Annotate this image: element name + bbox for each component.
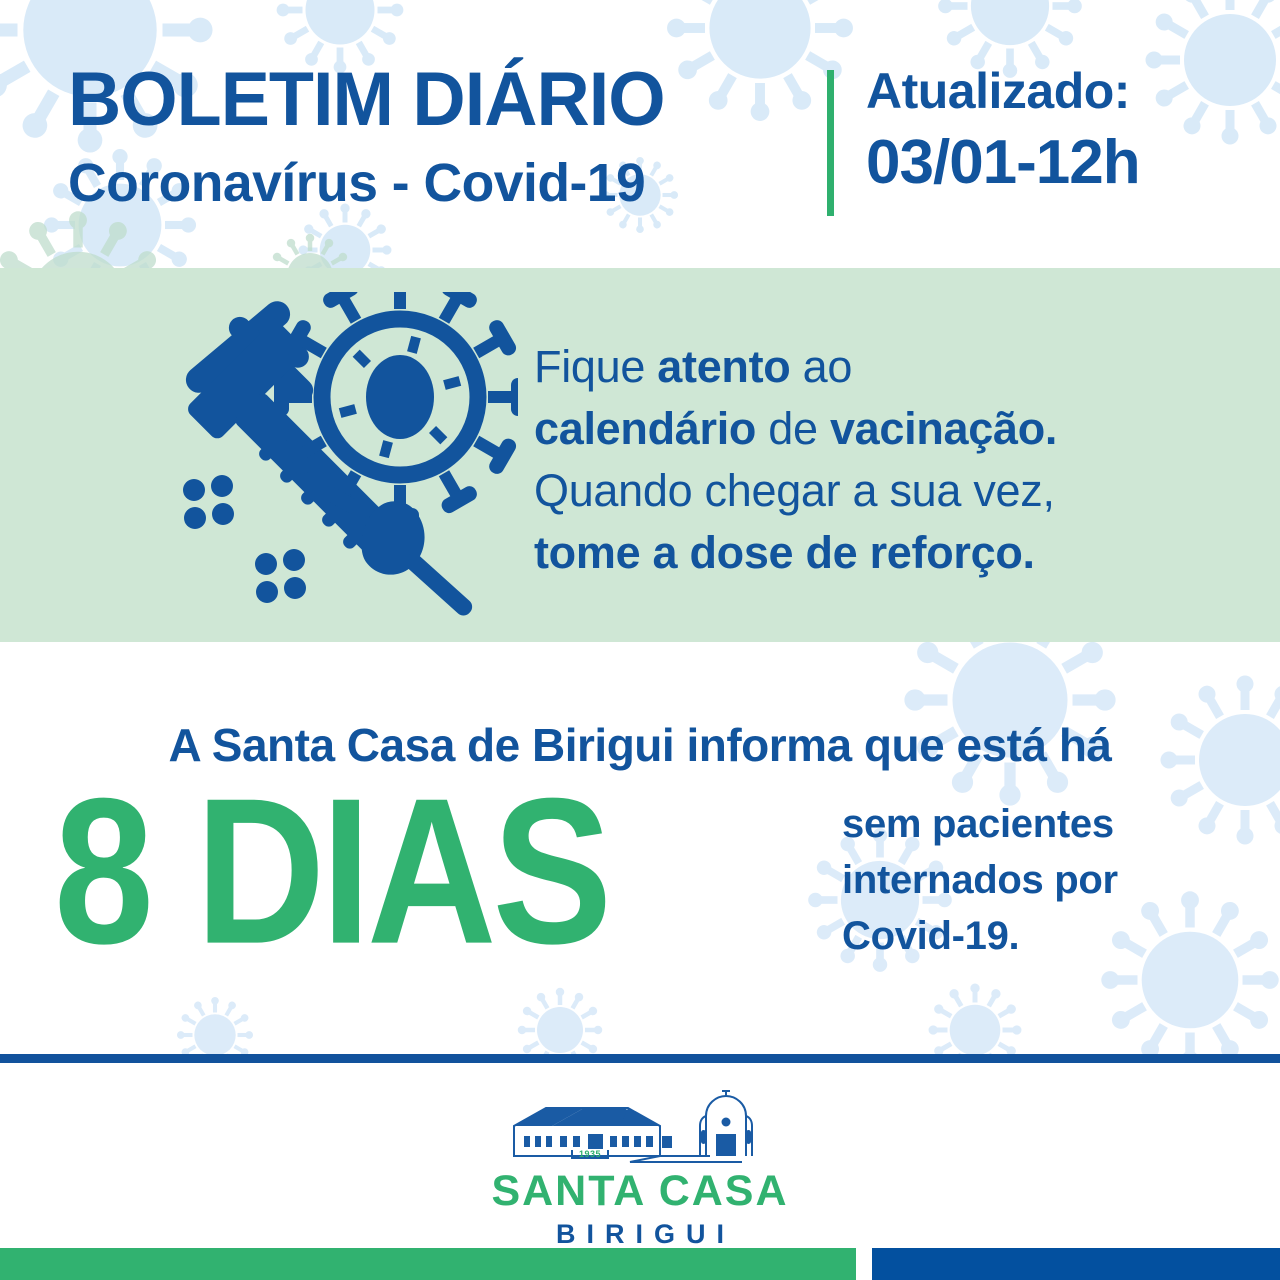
vaccine-line2-b: de xyxy=(756,403,830,454)
logo-city-text: BIRIGUI xyxy=(545,1221,735,1248)
santa-casa-logo: 1935 SANTA CASA BIRIGUI xyxy=(0,1090,1280,1248)
bottom-bar-green xyxy=(0,1248,856,1280)
vaccine-text-line-2: calendário de vacinação. xyxy=(534,398,1234,460)
header-vertical-divider xyxy=(827,70,834,216)
side-text-line-3: Covid-19. xyxy=(842,908,1262,964)
page-title: BOLETIM DIÁRIO xyxy=(68,62,786,138)
bottom-bar-blue xyxy=(872,1248,1280,1280)
page-subtitle: Coronavírus - Covid-19 xyxy=(68,156,801,210)
logo-name-text: SANTA CASA xyxy=(491,1170,788,1213)
logo-year: 1935 xyxy=(579,1149,601,1159)
santa-casa-building-logo-icon: 1935 xyxy=(510,1090,770,1168)
vaccine-line2-c: vacinação. xyxy=(830,403,1057,454)
vaccine-text-line-1: Fique atento ao xyxy=(534,336,1234,398)
syringe-virus-icon xyxy=(168,292,518,627)
vaccine-line1-a: Fique xyxy=(534,341,657,392)
side-text-line-2: internados por xyxy=(842,852,1262,908)
days-count-highlight: 8 DIAS xyxy=(54,768,608,976)
poster-header: BOLETIM DIÁRIO Coronavírus - Covid-19 xyxy=(0,0,1280,268)
main-side-text: sem pacientes internados por Covid-19. xyxy=(842,796,1262,964)
vaccine-line1-bold: atento xyxy=(657,341,790,392)
vaccine-text-line-4: tome a dose de reforço. xyxy=(534,522,1234,584)
vaccine-line2-a: calendário xyxy=(534,403,756,454)
footer-divider-rule xyxy=(0,1054,1280,1063)
syringe-virus-svg xyxy=(168,292,518,627)
vaccine-line1-c: ao xyxy=(790,341,852,392)
vaccine-text-line-3: Quando chegar a sua vez, xyxy=(534,460,1234,522)
side-text-line-1: sem pacientes xyxy=(842,796,1262,852)
covid-daily-bulletin-poster: BOLETIM DIÁRIO Coronavírus - Covid-19 At… xyxy=(0,0,1280,1280)
header-title-block: BOLETIM DIÁRIO Coronavírus - Covid-19 xyxy=(68,62,808,210)
vaccine-reminder-text: Fique atento ao calendário de vacinação.… xyxy=(534,336,1234,584)
